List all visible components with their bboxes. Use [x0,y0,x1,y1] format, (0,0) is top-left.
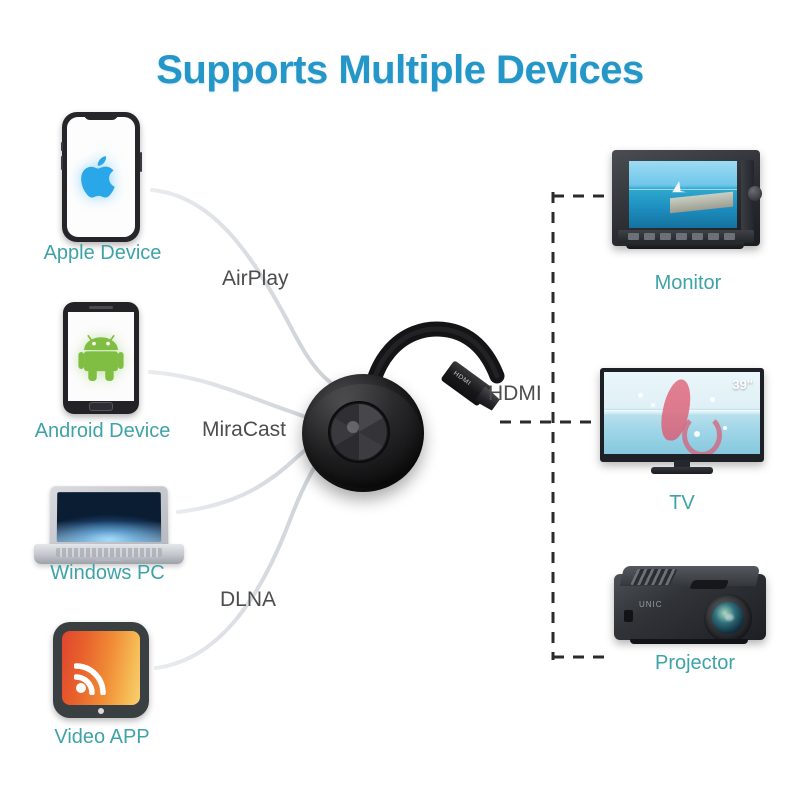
android-screen [68,312,134,401]
projector-ir-receiver [624,610,633,622]
tv-screen: 39" [604,372,760,454]
home-button [89,402,113,411]
monitor-icon [612,150,760,258]
hdmi-brand-text: HDMI [452,370,472,387]
tv-splash-curl [682,413,722,454]
monitor-horizon-line [629,189,737,190]
label-protocol-airplay: AirPlay [222,267,289,291]
label-apple-device: Apple Device [20,242,185,265]
label-projector: Projector [600,652,790,675]
label-hdmi: HDMI [488,382,542,406]
monitor-mount-knob [748,186,762,201]
projector-lens [712,602,744,634]
monitor-button[interactable] [676,233,687,240]
label-video-app: Video APP [22,726,182,749]
laptop-base [34,544,184,564]
monitor-button[interactable] [692,233,703,240]
video-app-icon [53,622,149,718]
apple-device-icon [62,112,140,242]
projector-lens-highlight [725,614,734,621]
label-monitor: Monitor [608,272,768,295]
cast-waves-icon [74,655,114,695]
laptop-trackpad [96,558,122,561]
label-android-device: Android Device [10,420,195,443]
iphone-screen [67,117,135,237]
tv-size-badge: 39" [732,377,753,392]
label-protocol-dlna: DLNA [220,588,276,612]
apple-logo-icon [80,153,122,201]
laptop-keyboard [56,548,162,557]
label-windows-pc: Windows PC [25,562,190,585]
power-button [140,152,142,172]
iphone-notch [84,112,118,120]
monitor-screen [629,161,737,228]
monitor-button[interactable] [644,233,655,240]
label-protocol-miracast: MiraCast [202,418,286,442]
label-tv: TV [622,492,742,515]
volume-down-button [61,156,63,170]
projector-icon: UNIC [614,566,766,648]
video-app-screen [62,631,140,705]
windows-pc-icon [34,486,184,566]
infographic-root: Supports Multiple Devices [0,0,800,800]
tv-droplet [710,397,715,402]
projector-lens-ring [704,594,752,642]
projector-control-keys[interactable] [630,569,677,585]
monitor-button[interactable] [660,233,671,240]
monitor-button[interactable] [628,233,639,240]
projector-top-panel [620,566,760,586]
laptop-screen [57,492,162,542]
tv-droplet [638,393,643,398]
wireless-display-dongle: HDMI [296,312,511,502]
aperture-shutter-icon [327,400,391,464]
tv-frame: 39" [600,368,764,462]
android-robot-icon [78,333,124,381]
earpiece-speaker [89,306,113,309]
monitor-boat [672,181,686,195]
volume-up-button [61,142,63,151]
monitor-button[interactable] [724,233,735,240]
tv-droplet [651,403,655,407]
tv-droplet [723,426,727,430]
monitor-stand [626,242,744,249]
video-app-home-dot [98,708,104,714]
monitor-pier [670,191,733,212]
laptop-lid [50,486,169,548]
projector-foot [630,639,748,644]
monitor-button[interactable] [708,233,719,240]
projector-vent [689,580,729,589]
tv-stand-base [651,467,713,474]
android-device-icon [63,302,139,414]
tv-icon: 39" [600,368,764,476]
projector-brand-text: UNIC [639,600,663,609]
